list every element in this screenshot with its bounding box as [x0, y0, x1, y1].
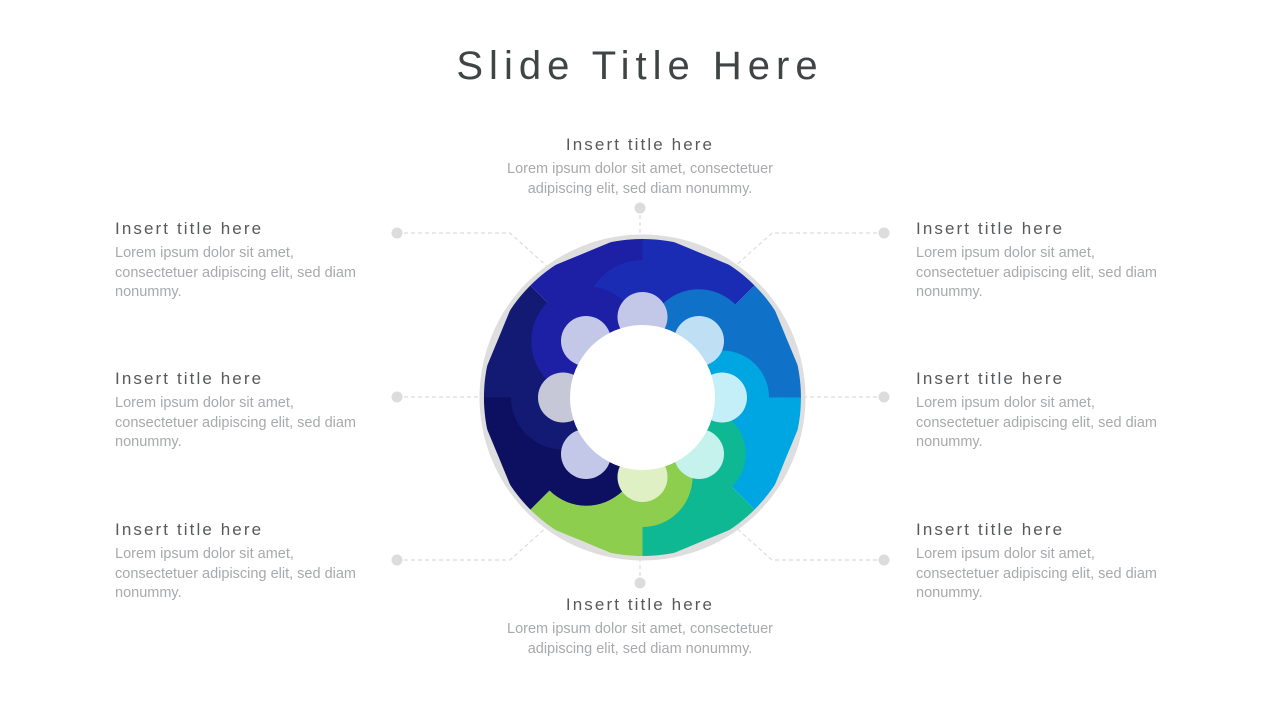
text-block-right-2[interactable]: Insert title here Lorem ipsum dolor sit … — [916, 369, 1161, 453]
text-block-left-2-title: Insert title here — [115, 369, 360, 389]
text-block-right-2-title: Insert title here — [916, 369, 1161, 389]
text-block-right-3-body: Lorem ipsum dolor sit amet, consectetuer… — [916, 545, 1161, 604]
connector-dot-icon-right-3 — [879, 555, 890, 566]
text-block-bottom[interactable]: Insert title here Lorem ipsum dolor sit … — [475, 595, 805, 659]
text-block-right-3-title: Insert title here — [916, 520, 1161, 540]
text-block-right-2-body: Lorem ipsum dolor sit amet, consectetuer… — [916, 394, 1161, 453]
text-block-left-1[interactable]: Insert title here Lorem ipsum dolor sit … — [115, 219, 360, 303]
text-block-right-1[interactable]: Insert title here Lorem ipsum dolor sit … — [916, 219, 1161, 303]
connector-dot-icon-left-2 — [392, 392, 403, 403]
connector-dot-icon-left-3 — [392, 555, 403, 566]
connector-dot-icon-left-1 — [392, 228, 403, 239]
text-block-right-1-title: Insert title here — [916, 219, 1161, 239]
donut-hole — [570, 325, 715, 470]
text-block-top-body: Lorem ipsum dolor sit amet, consectetuer… — [475, 160, 805, 199]
connector-dot-icon-bottom — [635, 578, 646, 589]
text-block-bottom-title: Insert title here — [475, 595, 805, 615]
text-block-left-2[interactable]: Insert title here Lorem ipsum dolor sit … — [115, 369, 360, 453]
text-block-left-3[interactable]: Insert title here Lorem ipsum dolor sit … — [115, 520, 360, 604]
text-block-right-1-body: Lorem ipsum dolor sit amet, consectetuer… — [916, 244, 1161, 303]
text-block-right-3[interactable]: Insert title here Lorem ipsum dolor sit … — [916, 520, 1161, 604]
text-block-top-title: Insert title here — [475, 135, 805, 155]
text-block-left-1-title: Insert title here — [115, 219, 360, 239]
donut-chart — [470, 225, 815, 570]
connector-dot-icon-right-1 — [879, 228, 890, 239]
text-block-top[interactable]: Insert title here Lorem ipsum dolor sit … — [475, 135, 805, 199]
connector-dot-icon-right-2 — [879, 392, 890, 403]
text-block-bottom-body: Lorem ipsum dolor sit amet, consectetuer… — [475, 620, 805, 659]
text-block-left-2-body: Lorem ipsum dolor sit amet, consectetuer… — [115, 394, 360, 453]
connector-dot-icon-top — [635, 203, 646, 214]
donut-chart-svg — [470, 225, 815, 570]
slide-canvas: Slide Title Here — [0, 0, 1280, 720]
text-block-left-3-title: Insert title here — [115, 520, 360, 540]
text-block-left-3-body: Lorem ipsum dolor sit amet, consectetuer… — [115, 545, 360, 604]
text-block-left-1-body: Lorem ipsum dolor sit amet, consectetuer… — [115, 244, 360, 303]
